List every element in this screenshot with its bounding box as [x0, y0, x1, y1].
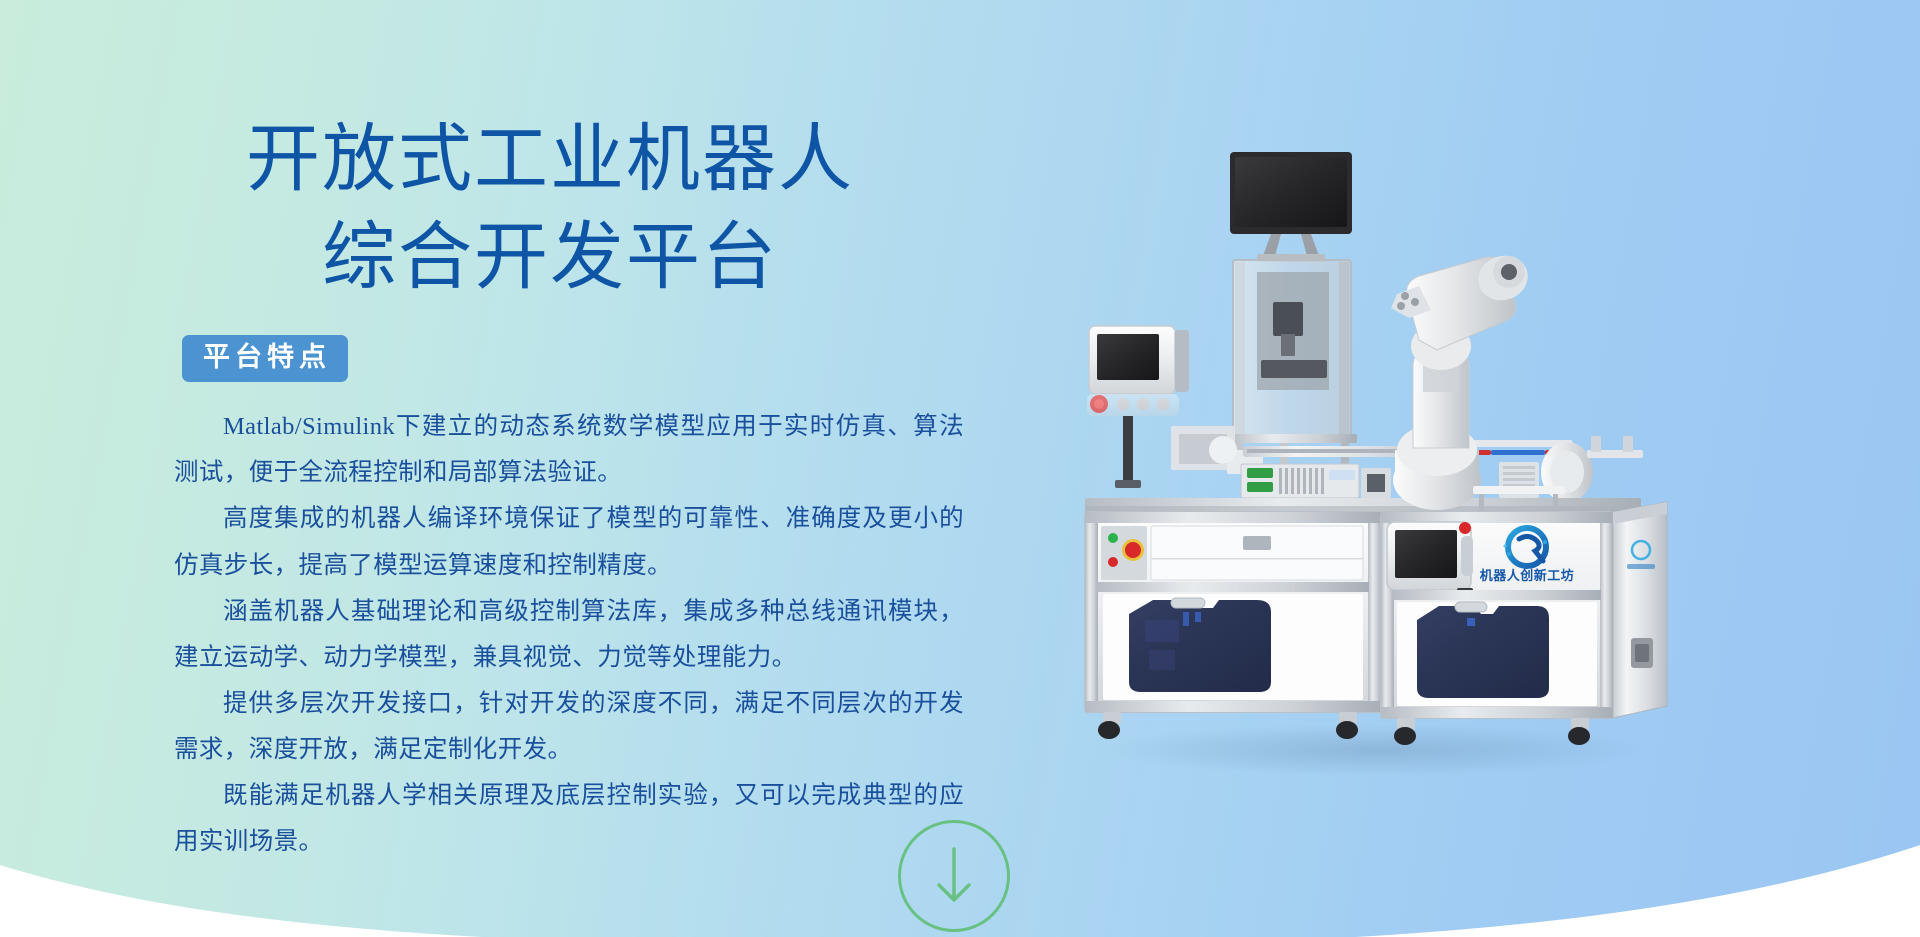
control-cabinet-left: [1085, 512, 1381, 739]
feature-paragraph: 涵盖机器人基础理论和高级控制算法库，集成多种总线通讯模块，建立运动学、动力学模型…: [174, 589, 964, 681]
feature-paragraphs: Matlab/Simulink下建立的动态系统数学模型应用于实时仿真、算法测试，…: [150, 404, 964, 864]
hero-banner: 机器人创新工坊: [0, 0, 1920, 937]
status-badge: 平台特点: [182, 335, 348, 382]
machine-shadow: [1105, 724, 1645, 776]
page-title: 开放式工业机器人 综合开发平台: [150, 112, 950, 307]
hero-text-column: 开放式工业机器人 综合开发平台 平台特点 Matlab/Simulink下建立的…: [150, 112, 970, 865]
arrow-down-icon: [901, 823, 1007, 929]
teach-pendant: [1387, 522, 1473, 600]
feature-paragraph: 提供多层次开发接口，针对开发的深度不同，满足不同层次的开发需求，深度开放，满足定…: [174, 681, 964, 773]
enclosure-cabinet: [1227, 260, 1357, 469]
brand-logo-text: 机器人创新工坊: [1480, 568, 1575, 583]
feature-paragraph: 既能满足机器人学相关原理及底层控制实验，又可以完成典型的应用实训场景。: [174, 773, 964, 865]
scroll-down-button[interactable]: [898, 820, 1010, 932]
page-title-line-2: 综合开发平台: [150, 210, 950, 308]
display-monitor: [1230, 152, 1352, 262]
feature-paragraph: Matlab/Simulink下建立的动态系统数学模型应用于实时仿真、算法测试，…: [174, 404, 964, 496]
feature-paragraph: 高度集成的机器人编译环境保证了模型的可靠性、准确度及更小的仿真步长，提高了模型运…: [174, 496, 964, 588]
control-cabinet-right: 机器人创新工坊: [1381, 512, 1613, 745]
badge-row: 平台特点: [150, 335, 970, 382]
worktop-deck: [1085, 426, 1643, 512]
machine-illustration: 机器人创新工坊: [1075, 150, 1695, 790]
page-title-line-1: 开放式工业机器人: [150, 112, 950, 210]
side-panel: [1613, 502, 1667, 718]
